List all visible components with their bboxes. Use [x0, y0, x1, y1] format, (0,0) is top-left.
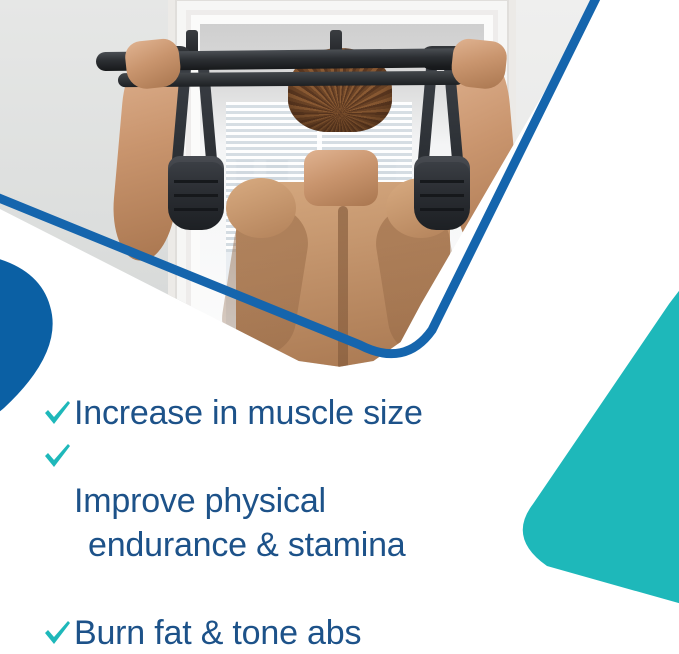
infographic-canvas: Increase in muscle size Improve physical…	[0, 0, 679, 654]
benefit-label-wrapped: Improve physical endurance & stamina	[74, 435, 406, 611]
check-icon	[42, 435, 72, 477]
strap-cuff	[168, 156, 224, 230]
athlete-fist-right	[450, 37, 509, 90]
benefits-list: Increase in muscle size Improve physical…	[42, 392, 642, 654]
baseboard	[200, 364, 484, 380]
check-icon	[42, 392, 72, 434]
check-icon	[42, 612, 72, 654]
ab-strap-right	[420, 62, 462, 230]
benefit-label: Burn fat & tone abs	[74, 612, 361, 654]
benefit-label-continuation: endurance & stamina	[74, 523, 406, 567]
list-item: Increase in muscle size	[42, 392, 642, 434]
strap-cuff	[414, 156, 470, 230]
list-item: Improve physical endurance & stamina	[42, 435, 642, 611]
benefit-label: Improve physical	[74, 482, 326, 520]
list-item: Burn fat & tone abs	[42, 612, 642, 654]
athlete-spine	[338, 206, 348, 380]
benefit-label: Increase in muscle size	[74, 392, 423, 434]
ab-strap-left	[174, 62, 216, 230]
athlete-shoulder-left	[226, 178, 296, 238]
